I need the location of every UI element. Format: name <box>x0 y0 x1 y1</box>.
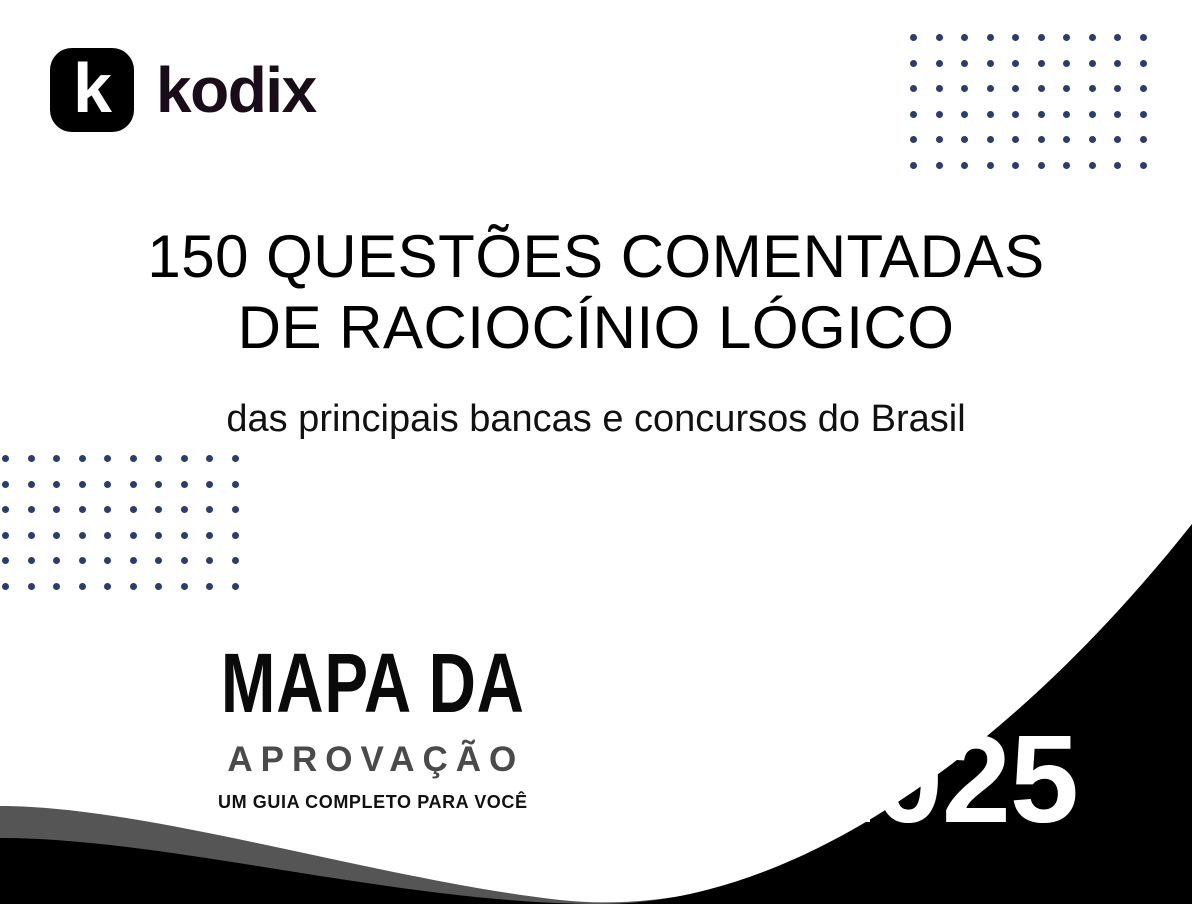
decor-dot <box>28 557 35 564</box>
decor-dot <box>181 506 188 513</box>
brand-logo: k kodix <box>50 48 316 132</box>
brand-block-tagline: UM GUIA COMPLETO PARA VOCÊ <box>178 793 568 811</box>
decor-dot <box>1089 85 1096 92</box>
decor-dot <box>155 532 162 539</box>
decor-dot <box>79 583 86 590</box>
decor-dot <box>28 481 35 488</box>
decor-dot <box>936 60 943 67</box>
year-label: 2025 <box>806 718 1078 842</box>
decor-dot <box>961 85 968 92</box>
decor-dot <box>53 583 60 590</box>
decor-dot <box>79 532 86 539</box>
headline-line-2: DE RACIOCÍNIO LÓGICO <box>0 293 1192 364</box>
brand-block: MAPA DA APROVAÇÃO UM GUIA COMPLETO PARA … <box>178 645 568 811</box>
decor-dot <box>1012 60 1019 67</box>
decor-dot <box>2 481 9 488</box>
decor-dot <box>53 506 60 513</box>
decor-dot <box>1089 60 1096 67</box>
decor-dot <box>28 506 35 513</box>
decor-dot <box>1038 111 1045 118</box>
decor-dot <box>53 557 60 564</box>
decor-dot <box>206 455 213 462</box>
decor-dot <box>2 557 9 564</box>
decor-dot <box>910 162 917 169</box>
decor-dot <box>2 455 9 462</box>
decor-dot <box>130 583 137 590</box>
decor-dot <box>53 481 60 488</box>
decor-dot <box>130 532 137 539</box>
decor-dot <box>53 532 60 539</box>
decor-dot <box>232 481 239 488</box>
decor-dot <box>104 557 111 564</box>
decor-dot <box>232 506 239 513</box>
decor-dot <box>987 34 994 41</box>
decor-dot <box>1114 162 1121 169</box>
decor-dot <box>104 481 111 488</box>
decor-dot <box>79 557 86 564</box>
decor-dot <box>910 60 917 67</box>
decor-dot <box>1114 111 1121 118</box>
decor-dot <box>961 136 968 143</box>
decor-dot <box>155 481 162 488</box>
logo-mark-letter: k <box>50 48 134 132</box>
decor-dot <box>936 85 943 92</box>
decor-dot <box>181 455 188 462</box>
decor-dot <box>987 60 994 67</box>
decor-dot <box>1114 136 1121 143</box>
decor-dot <box>155 557 162 564</box>
decor-dot <box>28 455 35 462</box>
decor-dot <box>1114 85 1121 92</box>
decor-dot <box>1038 136 1045 143</box>
decor-dot <box>910 34 917 41</box>
decor-dot <box>1038 162 1045 169</box>
decor-dot <box>961 111 968 118</box>
decor-dot <box>104 455 111 462</box>
decor-dot <box>1114 34 1121 41</box>
decor-dot <box>104 583 111 590</box>
decor-dot <box>910 111 917 118</box>
decor-dot <box>232 557 239 564</box>
decor-dot <box>1140 136 1147 143</box>
kodix-logo-mark-icon: k <box>50 48 134 132</box>
decor-dot <box>1063 162 1070 169</box>
decor-dot <box>936 34 943 41</box>
decor-dot <box>2 532 9 539</box>
dot-grid-top-right <box>910 34 1165 187</box>
decor-dot <box>1140 34 1147 41</box>
decor-dot <box>1089 111 1096 118</box>
page-title: 150 QUESTÕES COMENTADAS DE RACIOCÍNIO LÓ… <box>0 222 1192 364</box>
decor-dot <box>936 162 943 169</box>
decor-dot <box>181 532 188 539</box>
decor-dot <box>232 455 239 462</box>
decor-dot <box>1089 34 1096 41</box>
decor-dot <box>104 532 111 539</box>
decor-dot <box>206 557 213 564</box>
page-subtitle: das principais bancas e concursos do Bra… <box>0 398 1192 441</box>
decor-dot <box>987 162 994 169</box>
decor-dot <box>936 111 943 118</box>
decor-dot <box>206 506 213 513</box>
decor-dot <box>206 583 213 590</box>
decor-dot <box>1012 111 1019 118</box>
headline-line-1: 150 QUESTÕES COMENTADAS <box>0 222 1192 293</box>
decor-dot <box>1038 34 1045 41</box>
decor-dot <box>79 481 86 488</box>
decor-dot <box>181 557 188 564</box>
decor-dot <box>1089 136 1096 143</box>
decor-dot <box>1063 136 1070 143</box>
brand-block-title: MAPA DA <box>221 645 525 722</box>
decor-dot <box>2 583 9 590</box>
decor-dot <box>1038 60 1045 67</box>
decor-dot <box>130 481 137 488</box>
decor-dot <box>1038 85 1045 92</box>
decor-dot <box>2 506 9 513</box>
decor-dot <box>961 34 968 41</box>
brand-block-subtitle: APROVAÇÃO <box>178 742 568 777</box>
decor-dot <box>28 532 35 539</box>
decor-dot <box>1140 162 1147 169</box>
decor-dot <box>910 85 917 92</box>
decor-dot <box>1114 60 1121 67</box>
decor-dot <box>1012 85 1019 92</box>
cover-page: k kodix 150 QUESTÕES COMENTADAS DE RACIO… <box>0 0 1192 904</box>
decor-dot <box>130 506 137 513</box>
decor-dot <box>1063 34 1070 41</box>
decor-dot <box>1140 60 1147 67</box>
decor-dot <box>155 455 162 462</box>
decor-dot <box>181 481 188 488</box>
decor-dot <box>79 455 86 462</box>
decor-dot <box>206 532 213 539</box>
decor-dot <box>987 85 994 92</box>
decor-dot <box>130 455 137 462</box>
decor-dot <box>1140 111 1147 118</box>
decor-dot <box>987 111 994 118</box>
decor-dot <box>1063 85 1070 92</box>
decor-dot <box>28 583 35 590</box>
dot-grid-bottom-left <box>2 455 257 608</box>
decor-dot <box>961 60 968 67</box>
decor-dot <box>1012 136 1019 143</box>
decor-dot <box>1063 111 1070 118</box>
decor-dot <box>1063 60 1070 67</box>
decor-dot <box>1012 162 1019 169</box>
decor-dot <box>232 532 239 539</box>
decor-dot <box>155 506 162 513</box>
decor-dot <box>181 583 188 590</box>
decor-dot <box>1089 162 1096 169</box>
decor-dot <box>232 583 239 590</box>
decor-dot <box>987 136 994 143</box>
decor-dot <box>961 162 968 169</box>
decor-dot <box>155 583 162 590</box>
decor-dot <box>1140 85 1147 92</box>
decor-dot <box>130 557 137 564</box>
decor-dot <box>1012 34 1019 41</box>
decor-dot <box>910 136 917 143</box>
decor-dot <box>936 136 943 143</box>
decor-dot <box>104 506 111 513</box>
decor-dot <box>79 506 86 513</box>
decor-dot <box>53 455 60 462</box>
decor-dot <box>206 481 213 488</box>
logo-wordmark: kodix <box>156 58 316 122</box>
